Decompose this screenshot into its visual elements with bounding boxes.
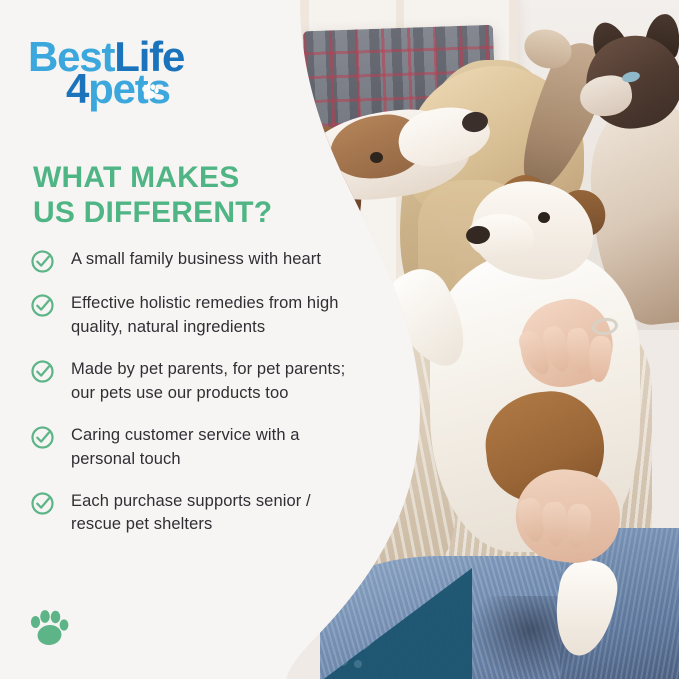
list-item-label: Effective holistic remedies from high qu… [71, 292, 361, 340]
list-item-label: A small family business with heart [71, 248, 321, 272]
infographic-canvas: BestLife 4pets WHAT MAKES US DIFFERENT? [0, 0, 679, 679]
footer-paw-print-icon [26, 604, 72, 650]
list-item: Made by pet parents, for pet parents; ou… [30, 358, 370, 406]
benefits-list: A small family business with heart Effec… [30, 248, 370, 555]
logo-paw-print-icon [140, 82, 160, 100]
list-item: Effective holistic remedies from high qu… [30, 292, 370, 340]
list-item-label: Each purchase supports senior / rescue p… [71, 490, 361, 538]
list-item-label: Made by pet parents, for pet parents; ou… [71, 358, 361, 406]
check-circle-icon [30, 491, 55, 516]
check-circle-icon [30, 293, 55, 318]
brand-logo: BestLife 4pets [28, 36, 258, 116]
list-item: Caring customer service with a personal … [30, 424, 370, 472]
headline-line-1: WHAT MAKES [33, 160, 313, 195]
list-item: A small family business with heart [30, 248, 370, 274]
content-panel: BestLife 4pets WHAT MAKES US DIFFERENT? [0, 0, 679, 679]
list-item-label: Caring customer service with a personal … [71, 424, 361, 472]
check-circle-icon [30, 359, 55, 384]
check-circle-icon [30, 425, 55, 450]
check-circle-icon [30, 249, 55, 274]
page-title: WHAT MAKES US DIFFERENT? [33, 160, 313, 231]
headline-line-2: US DIFFERENT? [33, 195, 313, 230]
list-item: Each purchase supports senior / rescue p… [30, 490, 370, 538]
logo-word-four: 4 [66, 65, 88, 112]
